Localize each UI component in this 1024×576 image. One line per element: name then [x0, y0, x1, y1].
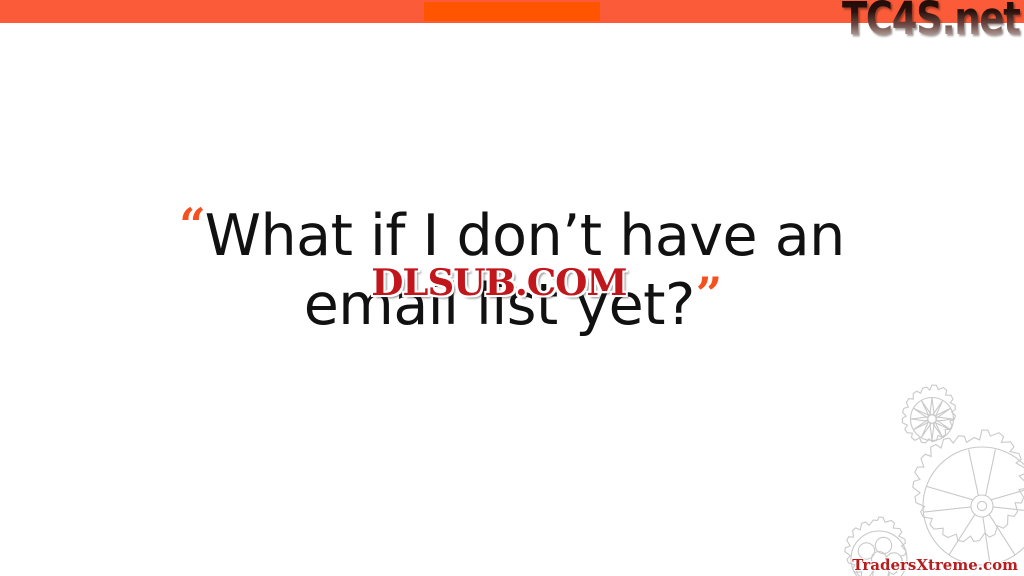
closing-quote-mark: ” — [696, 267, 720, 321]
small-gear-icon — [902, 385, 955, 443]
top-banner-accent-block — [424, 2, 600, 21]
opening-quote-mark: “ — [179, 198, 203, 252]
tradersxtreme-watermark: TradersXtreme.com — [852, 556, 1018, 574]
large-gear-icon — [913, 430, 1024, 565]
site-logo: TC4S.net — [842, 0, 1020, 41]
dlsub-watermark: DLSUB.COM — [371, 262, 626, 304]
gear-watermark-cluster — [834, 381, 1024, 576]
quote-line-1: What if I don’t have an — [205, 203, 845, 269]
